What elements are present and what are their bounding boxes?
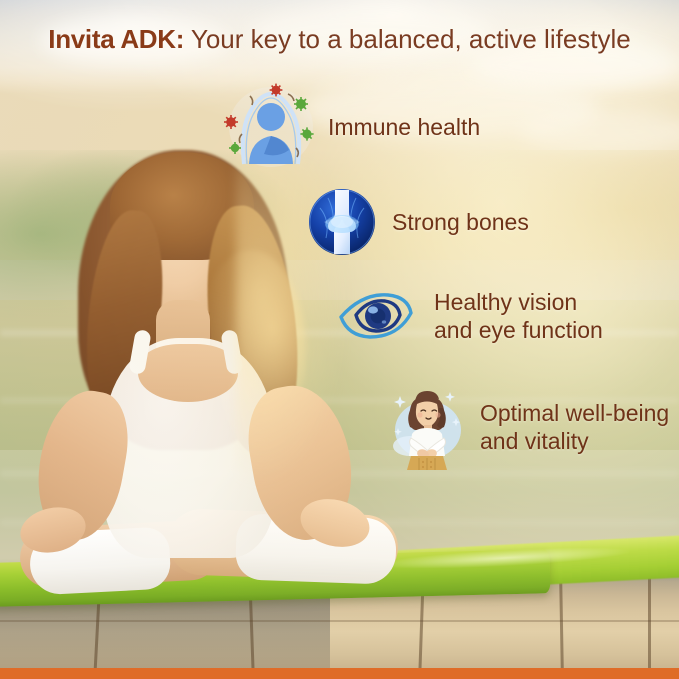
benefit-strong-bones: Strong bones [308,188,529,256]
benefit-label-line1: Healthy vision [434,288,603,316]
bottom-accent-bar [0,668,679,679]
product-lifestyle-banner: Invita ADK: Your key to a balanced, acti… [0,0,679,679]
benefit-label-line2: and vitality [480,427,669,455]
eye-icon [338,289,414,343]
benefit-label-line2: and eye function [434,316,603,344]
benefit-optimal-wellbeing: Optimal well-being and vitality [392,384,669,470]
benefit-label-line1: Optimal well-being [480,399,669,427]
tagline: Your key to a balanced, active lifestyle [184,24,631,54]
woman-arms-crossed-vitality-icon [392,384,462,470]
benefit-immune-health: Immune health [228,86,480,168]
benefit-healthy-vision: Healthy vision and eye function [338,288,603,344]
brand-name: Invita ADK: [48,24,184,54]
benefit-label-strong-bones: Strong bones [392,208,529,236]
benefit-label-immune-health: Immune health [328,113,480,141]
page-title: Invita ADK: Your key to a balanced, acti… [0,24,679,54]
benefit-label-optimal-wellbeing: Optimal well-being and vitality [480,399,669,455]
benefit-label-healthy-vision: Healthy vision and eye function [434,288,603,344]
knee-joint-bone-icon [308,188,376,256]
immune-person-shield-icon [228,86,314,168]
